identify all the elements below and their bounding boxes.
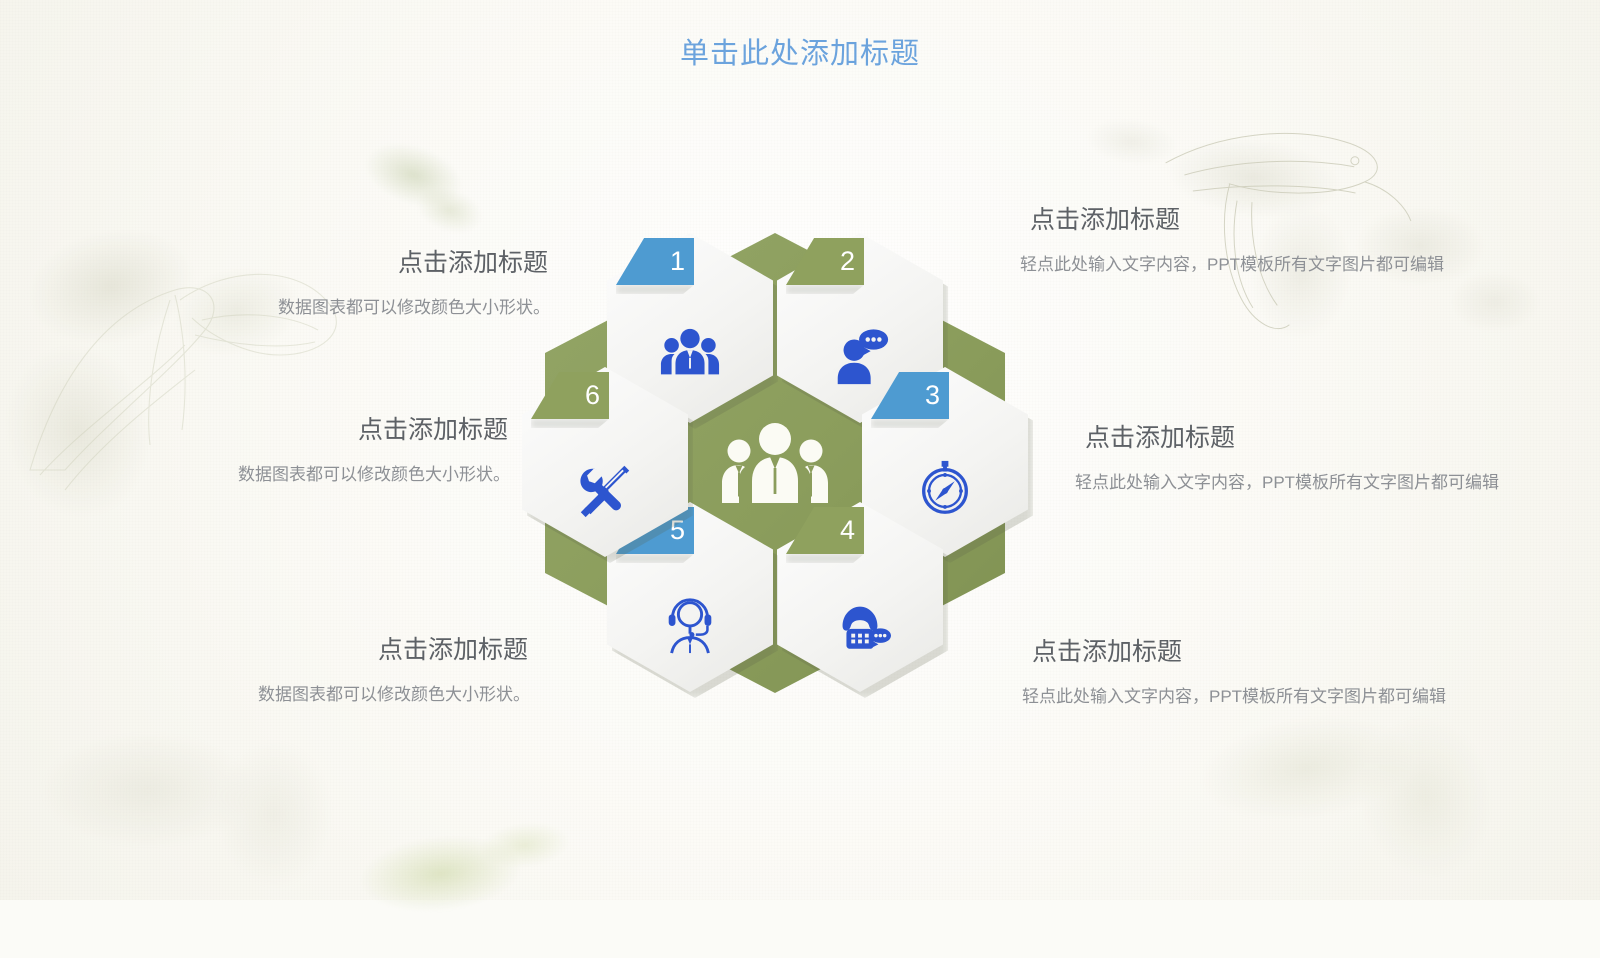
headset-support-icon [607, 586, 773, 662]
hex-tab-shadow [531, 419, 609, 428]
hex-tab-shadow [616, 285, 694, 294]
hex-tab-shadow [871, 419, 949, 428]
text-block-2-heading: 点击添加标题 [1030, 200, 1520, 236]
wrench-screwdriver-icon [522, 451, 688, 527]
hex-tab-shadow [786, 285, 864, 294]
text-block-2: 点击添加标题 轻点此处输入文字内容，PPT模板所有文字图片都可编辑 [1020, 200, 1520, 278]
text-block-6-body: 数据图表都可以修改颜色大小形状。 [40, 462, 510, 488]
text-block-6-heading: 点击添加标题 [40, 410, 510, 446]
text-block-3-heading: 点击添加标题 [1085, 418, 1525, 454]
hexagon-diagram: 1 2 [505, 225, 1045, 700]
text-block-4-body: 轻点此处输入文字内容，PPT模板所有文字图片都可编辑 [1022, 684, 1492, 710]
hex-number-2: 2 [786, 238, 864, 285]
text-block-4-heading: 点击添加标题 [1032, 632, 1492, 668]
text-block-4: 点击添加标题 轻点此处输入文字内容，PPT模板所有文字图片都可编辑 [1022, 632, 1492, 710]
hex-number-6: 6 [531, 372, 609, 419]
text-block-5-heading: 点击添加标题 [40, 630, 530, 666]
hex-number-1: 1 [616, 238, 694, 285]
text-block-6: 点击添加标题 数据图表都可以修改颜色大小形状。 [40, 410, 510, 488]
text-block-3-body: 轻点此处输入文字内容，PPT模板所有文字图片都可编辑 [1075, 470, 1525, 496]
text-block-5: 点击添加标题 数据图表都可以修改颜色大小形状。 [40, 630, 530, 708]
text-block-1-heading: 点击添加标题 [60, 243, 550, 279]
hex-number-3: 3 [871, 372, 949, 419]
text-block-2-body: 轻点此处输入文字内容，PPT模板所有文字图片都可编辑 [1020, 252, 1520, 278]
hex-card-6[interactable]: 6 [522, 367, 688, 557]
telephone-speech-bubble-icon [777, 586, 943, 662]
text-block-1-body: 数据图表都可以修改颜色大小形状。 [60, 295, 550, 321]
text-block-3: 点击添加标题 轻点此处输入文字内容，PPT模板所有文字图片都可编辑 [1075, 418, 1525, 496]
text-block-5-body: 数据图表都可以修改颜色大小形状。 [40, 682, 530, 708]
page-title: 单击此处添加标题 [0, 30, 1600, 72]
text-block-1: 点击添加标题 数据图表都可以修改颜色大小形状。 [60, 243, 550, 321]
three-people-white-icon [692, 367, 858, 557]
